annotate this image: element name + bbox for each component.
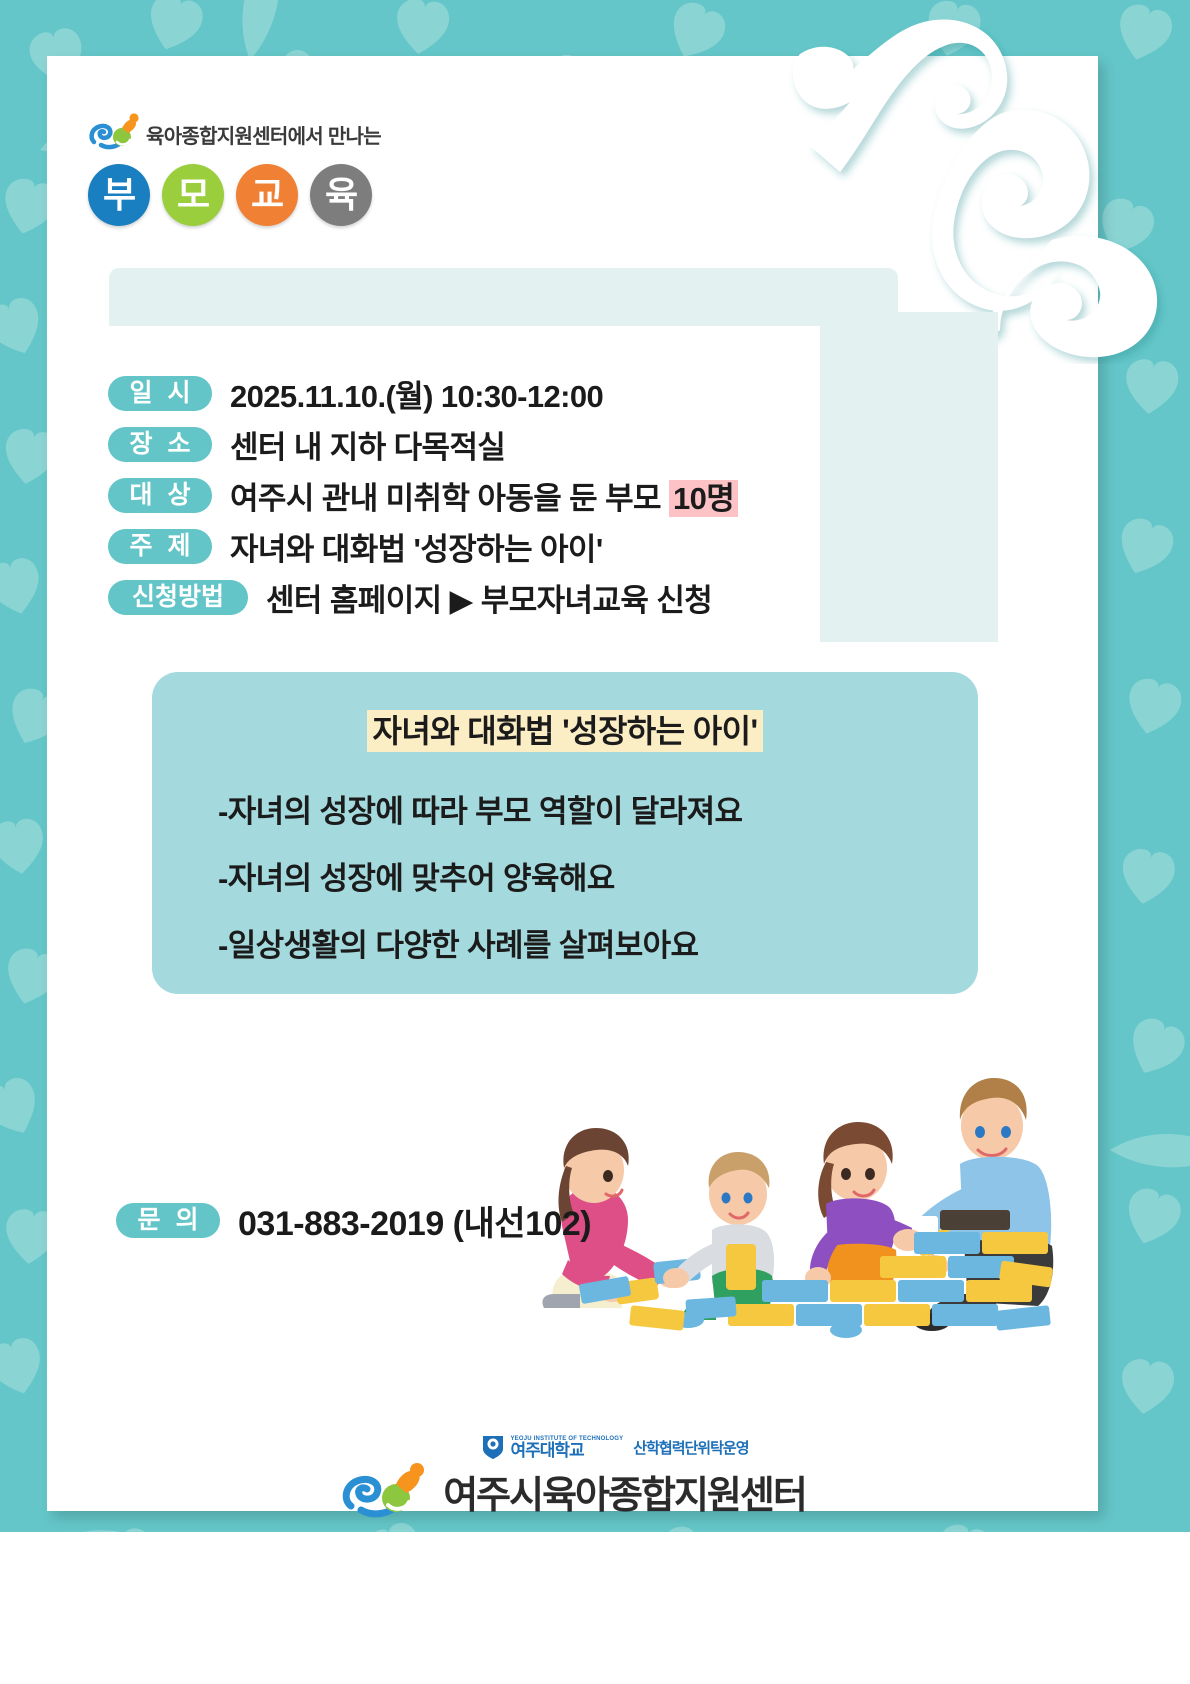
brand-circle-3: 육 bbox=[310, 164, 372, 226]
info-label-apply: 신청방법 bbox=[108, 580, 248, 615]
university-shield-icon bbox=[482, 1434, 504, 1460]
info-value-target-text: 여주시 관내 미취학 아동을 둔 부모 bbox=[230, 481, 661, 516]
brand-circle-2: 교 bbox=[236, 164, 298, 226]
contact-phone: 031-883-2019 (내선102) bbox=[238, 1196, 591, 1245]
info-row-apply: 신청방법 센터 홈페이지 ▶ 부모자녀교육 신청 bbox=[108, 572, 988, 623]
content-bullet-0: -자녀의 성장에 따라 부모 역할이 달라져요 bbox=[218, 786, 978, 831]
brand-circle-0: 부 bbox=[88, 164, 150, 226]
info-label-topic: 주 제 bbox=[108, 529, 212, 564]
content-box-bullet-list: -자녀의 성장에 따라 부모 역할이 달라져요 -자녀의 성장에 맞추어 양육해… bbox=[218, 786, 978, 965]
content-box-title: 자녀와 대화법 '성장하는 아이' bbox=[152, 706, 978, 752]
info-value-topic: 자녀와 대화법 '성장하는 아이' bbox=[230, 524, 603, 569]
capacity-highlight: 10명 bbox=[669, 480, 738, 517]
sc-logo-footer-icon bbox=[339, 1462, 431, 1520]
info-row-topic: 주 제 자녀와 대화법 '성장하는 아이' bbox=[108, 521, 988, 572]
info-value-target: 여주시 관내 미취학 아동을 둔 부모 10명 bbox=[230, 473, 738, 518]
info-list: 일 시 2025.11.10.(월) 10:30-12:00 장 소 센터 내 … bbox=[108, 368, 988, 623]
title-banner bbox=[109, 268, 898, 326]
content-bullet-1: -자녀의 성장에 맞추어 양육해요 bbox=[218, 853, 978, 898]
footer-operation-note: 산학협력단위탁운영 bbox=[633, 1437, 748, 1458]
brand-word-circles: 부 모 교 육 bbox=[88, 164, 518, 226]
info-label-place: 장 소 bbox=[108, 427, 212, 462]
university-name-stack: YEOJU INSTITUTE OF TECHNOLOGY 여주대학교 bbox=[510, 1436, 623, 1459]
info-label-date: 일 시 bbox=[108, 376, 212, 411]
brand-logo-block: 육아종합지원센터에서 만나는 부 모 교 육 bbox=[88, 108, 518, 226]
footer-center-block: 여주시육아종합지원센터 bbox=[339, 1462, 806, 1520]
info-row-date: 일 시 2025.11.10.(월) 10:30-12:00 bbox=[108, 368, 988, 419]
brand-circle-1: 모 bbox=[162, 164, 224, 226]
poster-root: 육아종합지원센터에서 만나는 부 모 교 육 일 시 2025.11.10.(월… bbox=[0, 0, 1190, 1684]
footer-university-block: YEOJU INSTITUTE OF TECHNOLOGY 여주대학교 산학협력… bbox=[482, 1434, 748, 1460]
info-value-place: 센터 내 지하 다목적실 bbox=[230, 422, 505, 467]
program-content-box: 자녀와 대화법 '성장하는 아이' -자녀의 성장에 따라 부모 역할이 달라져… bbox=[152, 672, 978, 994]
info-value-apply: 센터 홈페이지 ▶ 부모자녀교육 신청 bbox=[266, 575, 712, 620]
info-row-target: 대 상 여주시 관내 미취학 아동을 둔 부모 10명 bbox=[108, 470, 988, 521]
contact-label: 문 의 bbox=[116, 1203, 220, 1238]
info-value-date: 2025.11.10.(월) 10:30-12:00 bbox=[230, 371, 603, 416]
content-bullet-2: -일상생활의 다양한 사례를 살펴보아요 bbox=[218, 920, 978, 965]
info-label-target: 대 상 bbox=[108, 478, 212, 513]
university-name-ko: 여주대학교 bbox=[510, 1442, 623, 1459]
content-box-title-text: 자녀와 대화법 '성장하는 아이' bbox=[367, 710, 764, 752]
footer-center-name: 여주시육아종합지원센터 bbox=[443, 1464, 806, 1519]
family-playing-blocks-illustration bbox=[440, 1008, 1060, 1338]
brand-tagline: 육아종합지원센터에서 만나는 bbox=[146, 120, 381, 152]
contact-row: 문 의 031-883-2019 (내선102) bbox=[116, 1196, 591, 1245]
sc-logo-icon bbox=[88, 112, 144, 152]
info-row-place: 장 소 센터 내 지하 다목적실 bbox=[108, 419, 988, 470]
poster-footer: YEOJU INSTITUTE OF TECHNOLOGY 여주대학교 산학협력… bbox=[47, 1434, 1098, 1520]
